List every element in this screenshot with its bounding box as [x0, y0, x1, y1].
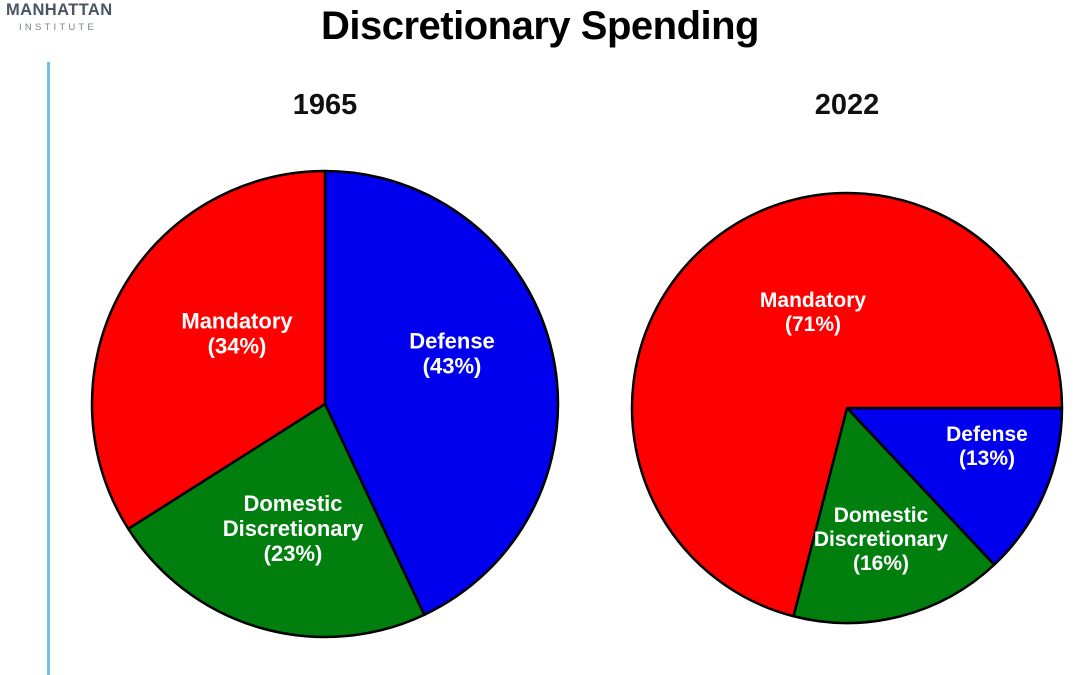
- panel-title-1965: 1965: [225, 88, 425, 122]
- pie-chart-1965: Defense(43%)DomesticDiscretionary(23%)Ma…: [85, 165, 565, 645]
- sidebar-accent-rule: [47, 62, 50, 675]
- pie-chart-2022: Defense(13%)DomesticDiscretionary(16%)Ma…: [625, 185, 1070, 630]
- pie-svg-1965: Defense(43%)DomesticDiscretionary(23%)Ma…: [85, 165, 565, 645]
- pie-slices-2022: [632, 193, 1062, 623]
- page-title: Discretionary Spending: [0, 0, 1080, 52]
- pie-svg-2022: Defense(13%)DomesticDiscretionary(16%)Ma…: [625, 185, 1070, 630]
- pie-slices-1965: [92, 171, 558, 637]
- slide-canvas: MANHATTAN INSTITUTE Discretionary Spendi…: [0, 0, 1080, 675]
- panel-title-2022: 2022: [747, 88, 947, 122]
